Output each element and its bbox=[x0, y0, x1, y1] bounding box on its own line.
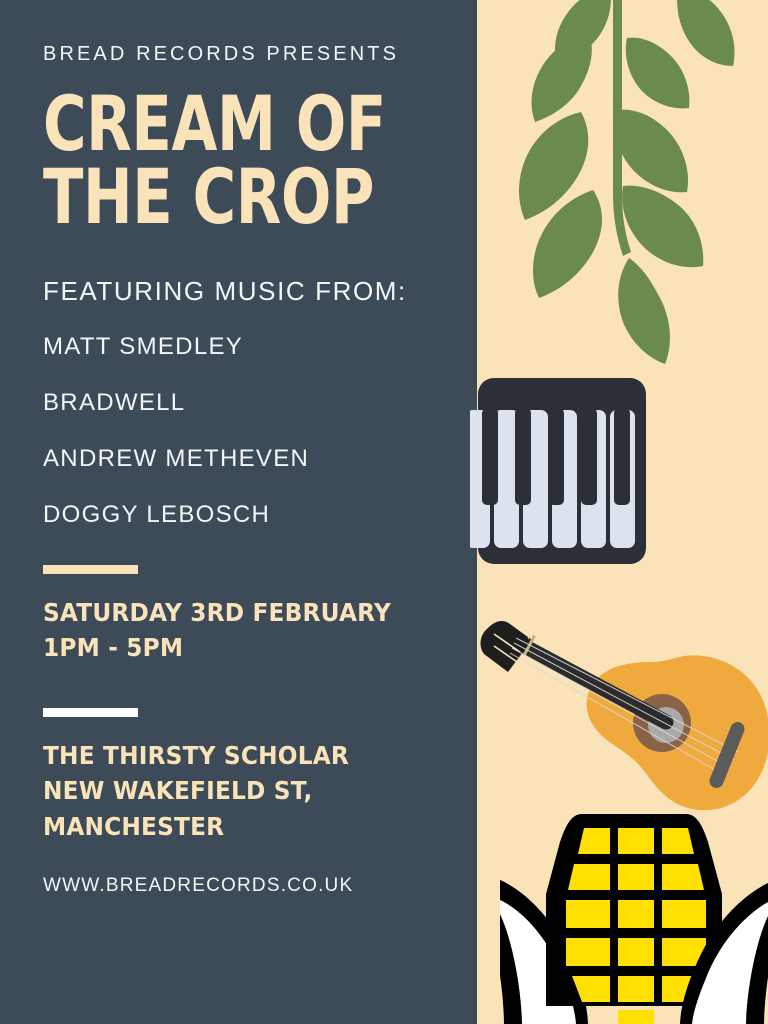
title-line-1: CREAM OF bbox=[43, 88, 382, 161]
list-item: ANDREW METHEVEN bbox=[43, 445, 477, 473]
venue-city: MANCHESTER bbox=[43, 809, 447, 845]
leaf-branch-icon bbox=[477, 0, 768, 370]
venue-address: THE THIRSTY SCHOLAR NEW WAKEFIELD ST, MA… bbox=[43, 738, 447, 845]
event-time: 1PM - 5PM bbox=[43, 630, 447, 666]
venue-street: NEW WAKEFIELD ST, bbox=[43, 773, 447, 809]
event-date: SATURDAY 3RD FEBRUARY bbox=[43, 595, 447, 631]
list-item: DOGGY LEBOSCH bbox=[43, 501, 477, 529]
acoustic-guitar-icon bbox=[470, 612, 768, 812]
event-poster: BREAD RECORDS PRESENTS CREAM OF THE CROP… bbox=[0, 0, 768, 1024]
list-item: MATT SMEDLEY bbox=[43, 333, 477, 361]
corn-cob-icon bbox=[500, 806, 768, 1024]
venue-name: THE THIRSTY SCHOLAR bbox=[43, 738, 447, 774]
poster-content: BREAD RECORDS PRESENTS CREAM OF THE CROP… bbox=[0, 0, 477, 1024]
website-url: WWW.BREADRECORDS.CO.UK bbox=[43, 875, 477, 897]
title-line-2: THE CROP bbox=[43, 161, 382, 234]
list-item: BRADWELL bbox=[43, 389, 477, 417]
divider-cream bbox=[43, 565, 138, 574]
page-title: CREAM OF THE CROP bbox=[43, 88, 382, 234]
divider-white bbox=[43, 708, 138, 717]
event-datetime: SATURDAY 3RD FEBRUARY 1PM - 5PM bbox=[43, 595, 447, 666]
artist-list: MATT SMEDLEY BRADWELL ANDREW METHEVEN DO… bbox=[43, 333, 477, 529]
piano-keyboard-icon bbox=[470, 378, 650, 570]
featuring-label: FEATURING MUSIC FROM: bbox=[43, 276, 477, 307]
presenter-line: BREAD RECORDS PRESENTS bbox=[43, 44, 477, 64]
